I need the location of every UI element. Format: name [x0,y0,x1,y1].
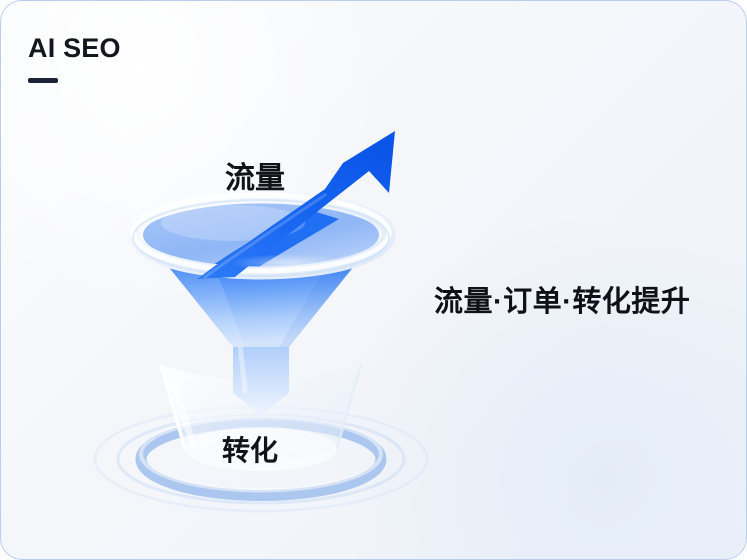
title-underline-accent [28,78,58,83]
page-title: AI SEO [28,35,121,62]
tagline-text: 流量·订单·转化提升 [434,278,690,320]
rim-highlight [231,254,347,272]
header: AI SEO [28,35,121,83]
illustration-canvas: AI SEO 流量·订单·转化提升 [0,0,747,560]
funnel-label-conversion: 转化 [222,429,278,469]
funnel-label-traffic: 流量 [225,153,285,197]
